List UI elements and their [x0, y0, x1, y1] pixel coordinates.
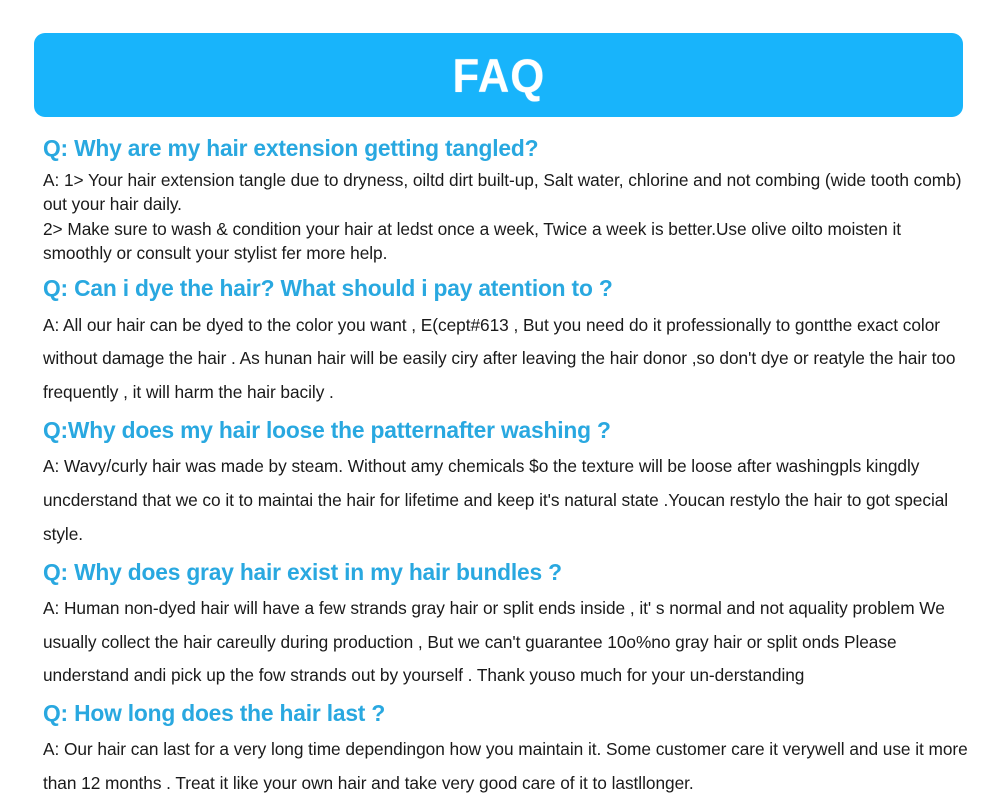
faq-question: Q:Why does my hair loose the patternafte…	[43, 415, 941, 445]
faq-page: FAQ Q: Why are my hair extension getting…	[0, 0, 1000, 812]
faq-question: Q: Why are my hair extension getting tan…	[43, 133, 941, 163]
page-title: FAQ	[452, 52, 545, 99]
faq-item: Q: Why are my hair extension getting tan…	[43, 133, 969, 266]
faq-item: Q:Why does my hair loose the patternafte…	[43, 415, 969, 551]
faq-answer: A: 1> Your hair extension tangle due to …	[43, 168, 969, 266]
faq-content: Q: Why are my hair extension getting tan…	[43, 133, 969, 800]
faq-question: Q: How long does the hair last ?	[43, 698, 941, 728]
faq-item: Q: Why does gray hair exist in my hair b…	[43, 557, 969, 693]
faq-question: Q: Why does gray hair exist in my hair b…	[43, 557, 941, 587]
faq-answer: A: Our hair can last for a very long tim…	[43, 733, 969, 800]
faq-answer: A: All our hair can be dyed to the color…	[43, 309, 969, 410]
faq-item: Q: How long does the hair last ? A: Our …	[43, 698, 969, 800]
faq-answer: A: Wavy/curly hair was made by steam. Wi…	[43, 450, 969, 551]
faq-question: Q: Can i dye the hair? What should i pay…	[43, 273, 941, 303]
faq-item: Q: Can i dye the hair? What should i pay…	[43, 273, 969, 410]
faq-header-banner: FAQ	[34, 33, 963, 117]
faq-answer: A: Human non-dyed hair will have a few s…	[43, 592, 969, 693]
